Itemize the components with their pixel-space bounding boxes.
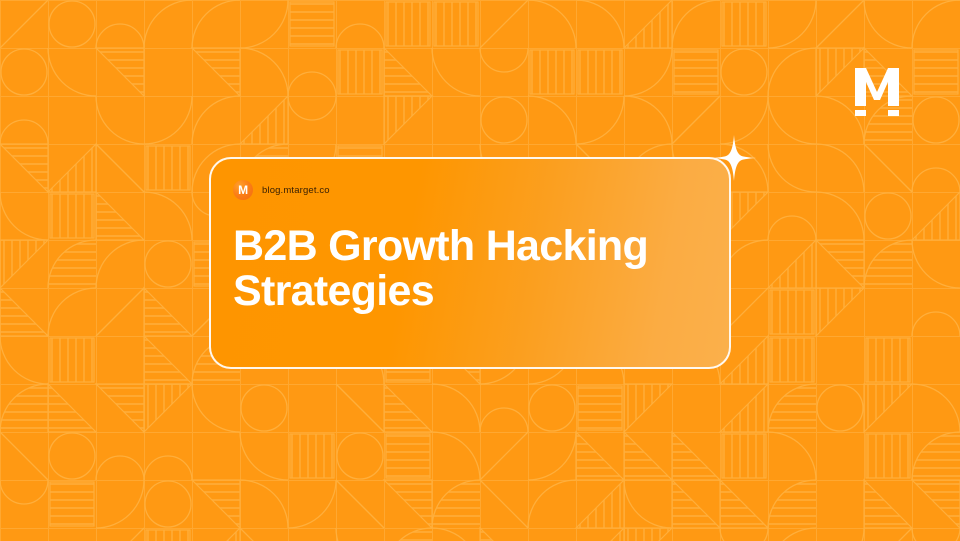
slide-canvas: M blog.mtarget.co B2B Growth Hacking Str… <box>0 0 960 541</box>
mtarget-circle-logo-icon: M <box>233 180 253 200</box>
source-url-label: blog.mtarget.co <box>262 185 330 196</box>
source-badge: M blog.mtarget.co <box>233 179 707 201</box>
article-preview-card: M blog.mtarget.co B2B Growth Hacking Str… <box>209 157 731 369</box>
badge-logo-letter: M <box>238 184 248 196</box>
article-title: B2B Growth Hacking Strategies <box>233 224 663 314</box>
card-content: M blog.mtarget.co B2B Growth Hacking Str… <box>233 179 707 349</box>
mtarget-m-logo-icon <box>853 66 901 118</box>
